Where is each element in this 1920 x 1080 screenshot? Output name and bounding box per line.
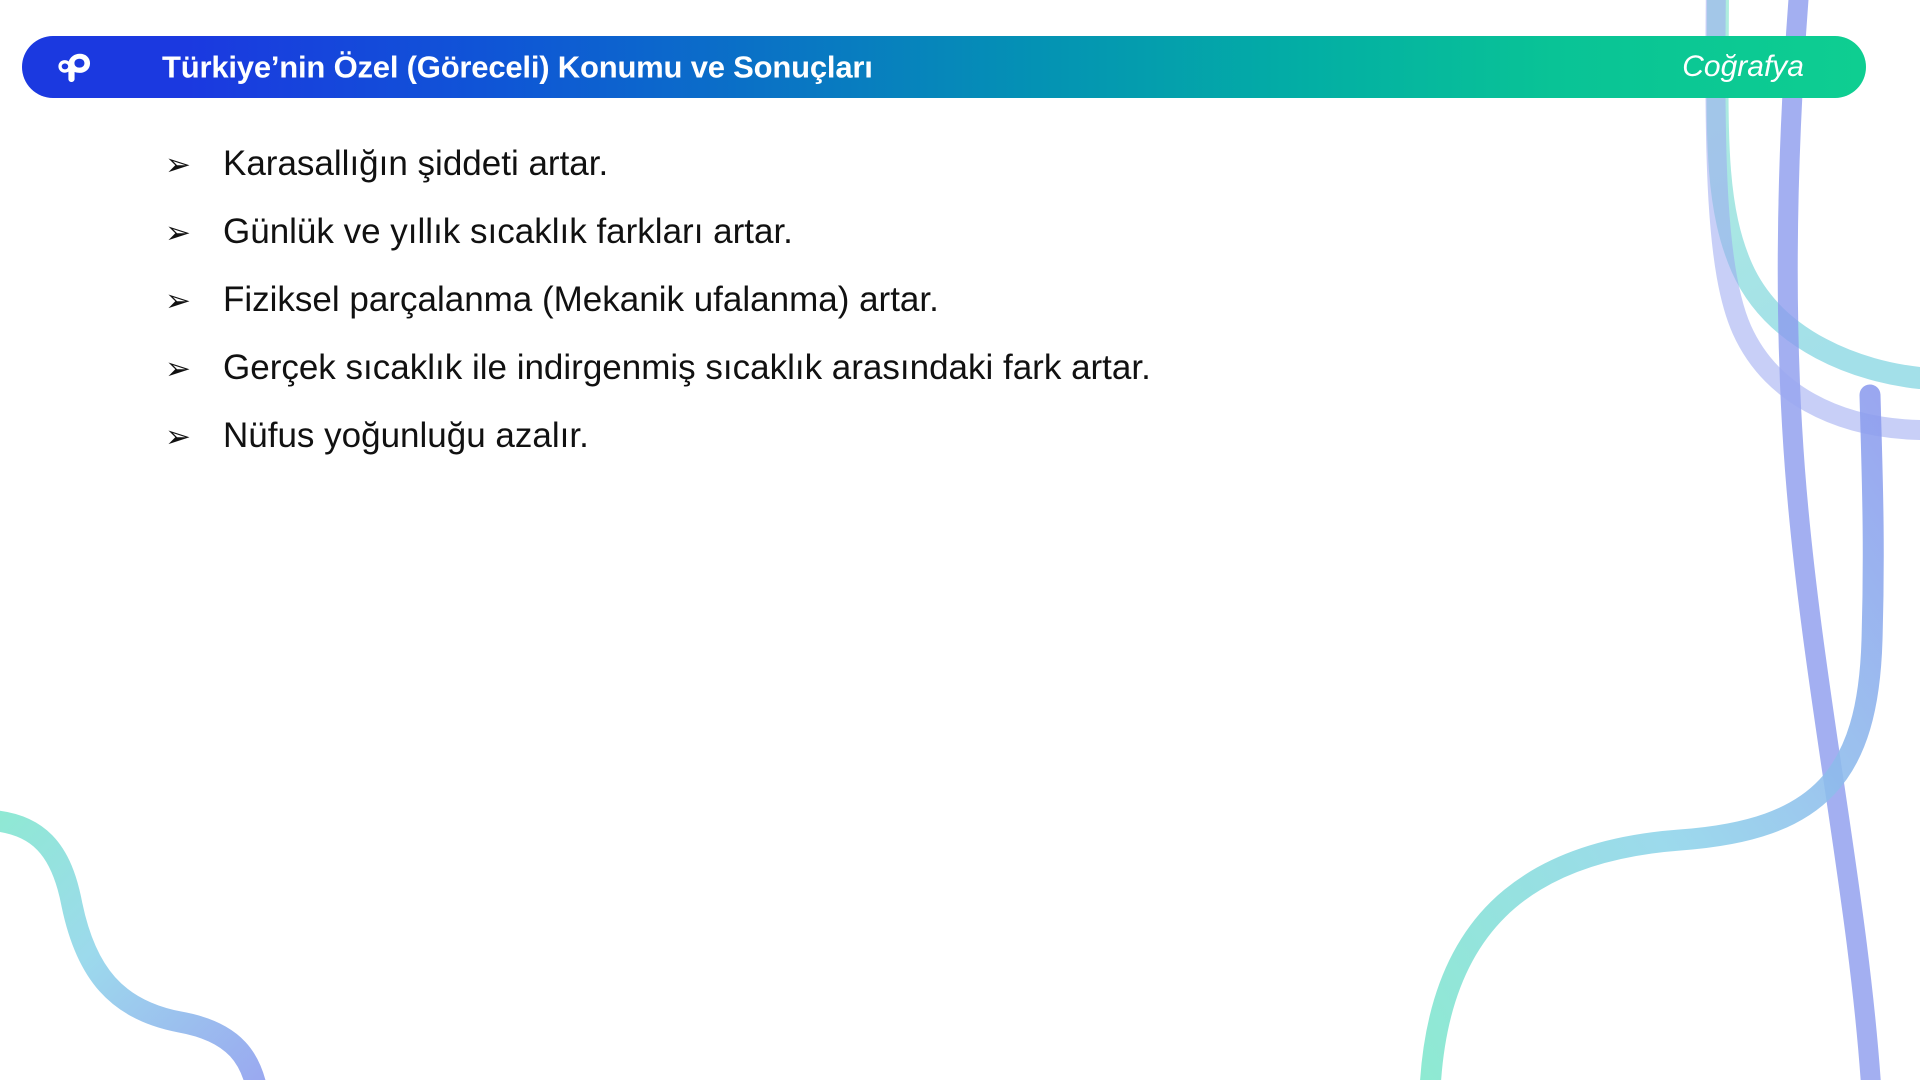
list-item: ➢ Karasallığın şiddeti artar. <box>0 140 1920 189</box>
ribbon-bottom-right <box>1430 395 1873 1080</box>
slide-canvas: Türkiye’nin Özel (Göreceli) Konumu ve So… <box>0 0 1920 1080</box>
list-item-text: Günlük ve yıllık sıcaklık farkları artar… <box>223 208 793 256</box>
list-item: ➢ Fiziksel parçalanma (Mekanik ufalanma)… <box>0 276 1920 325</box>
bullet-list: ➢ Karasallığın şiddeti artar. ➢ Günlük v… <box>0 140 1920 461</box>
page-title: Türkiye’nin Özel (Göreceli) Konumu ve So… <box>162 52 873 83</box>
list-item-text: Karasallığın şiddeti artar. <box>223 140 608 188</box>
arrow-bullet-icon: ➢ <box>165 277 223 325</box>
slide-header-bar: Türkiye’nin Özel (Göreceli) Konumu ve So… <box>22 36 1866 98</box>
list-item-text: Fiziksel parçalanma (Mekanik ufalanma) a… <box>223 276 939 324</box>
list-item-text: Gerçek sıcaklık ile indirgenmiş sıcaklık… <box>223 344 1151 392</box>
subject-label: Coğrafya <box>1682 52 1804 82</box>
list-item-text: Nüfus yoğunluğu azalır. <box>223 412 589 460</box>
list-item: ➢ Nüfus yoğunluğu azalır. <box>0 412 1920 461</box>
arrow-bullet-icon: ➢ <box>165 209 223 257</box>
arrow-bullet-icon: ➢ <box>165 141 223 189</box>
sprout-p-logo-icon <box>50 44 96 90</box>
slide-content: ➢ Karasallığın şiddeti artar. ➢ Günlük v… <box>0 140 1920 480</box>
list-item: ➢ Gerçek sıcaklık ile indirgenmiş sıcakl… <box>0 344 1920 393</box>
ribbon-bottom-left <box>0 820 258 1080</box>
list-item: ➢ Günlük ve yıllık sıcaklık farkları art… <box>0 208 1920 257</box>
arrow-bullet-icon: ➢ <box>165 345 223 393</box>
arrow-bullet-icon: ➢ <box>165 413 223 461</box>
